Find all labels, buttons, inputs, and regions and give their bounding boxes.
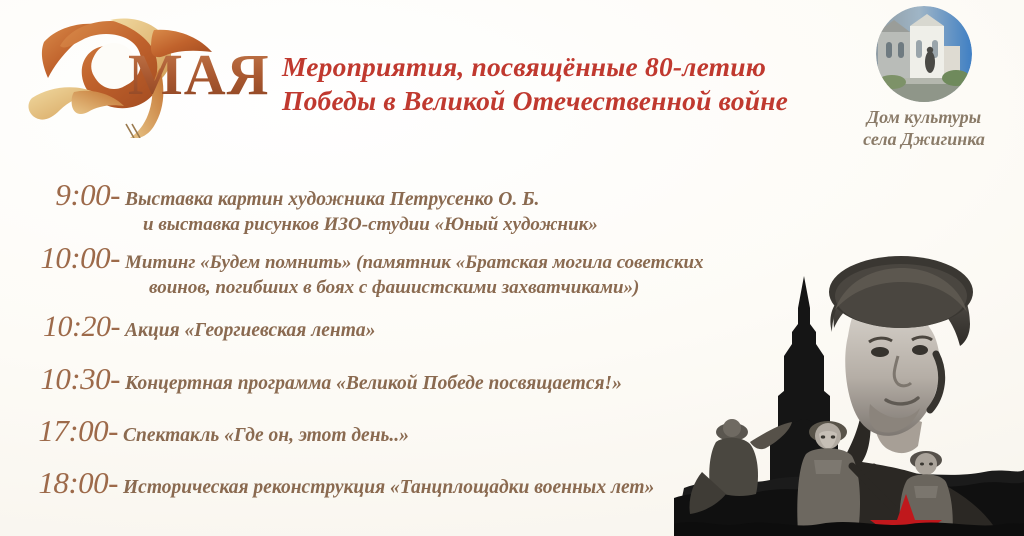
- schedule-time: 18:00-: [0, 464, 118, 502]
- schedule-row: 9:00- Выставка картин художника Петрусен…: [0, 176, 1024, 237]
- schedule-description: Спектакль «Где он, этот день..»: [123, 423, 409, 448]
- page-title: Мероприятия, посвящённые 80-летию Победы…: [282, 50, 842, 118]
- schedule-time: 10:00-: [0, 239, 120, 277]
- schedule-row: 10:00- Митинг «Будем помнить» (памятник …: [0, 239, 1024, 300]
- schedule-row: 10:30- Концертная программа «Великой Поб…: [0, 360, 1024, 398]
- event-schedule-list: 9:00- Выставка картин художника Петрусен…: [0, 176, 1024, 504]
- schedule-time: 9:00-: [0, 176, 120, 214]
- schedule-row: 18:00- Историческая реконструкция «Танцп…: [0, 464, 1024, 502]
- club-caption-line-2: села Джигинка: [836, 128, 1012, 150]
- schedule-row: 10:20- Акция «Георгиевская лента»: [0, 308, 1024, 346]
- club-caption-line-1: Дом культуры: [836, 106, 1012, 128]
- schedule-desc-line-2: воинов, погибших в боях с фашистскими за…: [149, 275, 704, 300]
- title-line-1: Мероприятия, посвящённые 80-летию: [282, 50, 842, 84]
- schedule-desc-line-2: и выставка рисунков ИЗО-студии «Юный худ…: [143, 212, 598, 237]
- schedule-description: Акция «Георгиевская лента»: [125, 318, 375, 343]
- schedule-desc-line-1: Историческая реконструкция «Танцплощадки…: [123, 477, 654, 498]
- logo-month-label: МАЯ: [128, 46, 270, 104]
- schedule-desc-line-1: Выставка картин художника Петрусенко О. …: [125, 189, 539, 210]
- schedule-time: 10:30-: [0, 360, 120, 398]
- house-of-culture-emblem: Дом культуры села Джигинка: [836, 6, 1012, 150]
- house-of-culture-photo: [876, 6, 972, 102]
- schedule-description: Митинг «Будем помнить» (памятник «Братск…: [125, 250, 704, 300]
- schedule-desc-line-1: Акция «Георгиевская лента»: [125, 320, 375, 341]
- schedule-time: 17:00-: [0, 412, 118, 450]
- schedule-time: 10:20-: [0, 308, 120, 346]
- schedule-desc-line-1: Концертная программа «Великой Победе пос…: [125, 373, 622, 394]
- schedule-description: Концертная программа «Великой Победе пос…: [125, 371, 622, 396]
- victory-day-event-poster: МАЯ Мероприятия, посвящённые 80-летию По…: [0, 0, 1024, 536]
- house-of-culture-caption: Дом культуры села Джигинка: [836, 106, 1012, 150]
- schedule-row: 17:00- Спектакль «Где он, этот день..»: [0, 412, 1024, 450]
- schedule-description: Историческая реконструкция «Танцплощадки…: [123, 475, 654, 500]
- schedule-desc-line-1: Митинг «Будем помнить» (памятник «Братск…: [125, 252, 704, 273]
- title-line-2: Победы в Великой Отечественной войне: [282, 84, 842, 118]
- schedule-desc-line-1: Спектакль «Где он, этот день..»: [123, 425, 409, 446]
- schedule-description: Выставка картин художника Петрусенко О. …: [125, 187, 598, 237]
